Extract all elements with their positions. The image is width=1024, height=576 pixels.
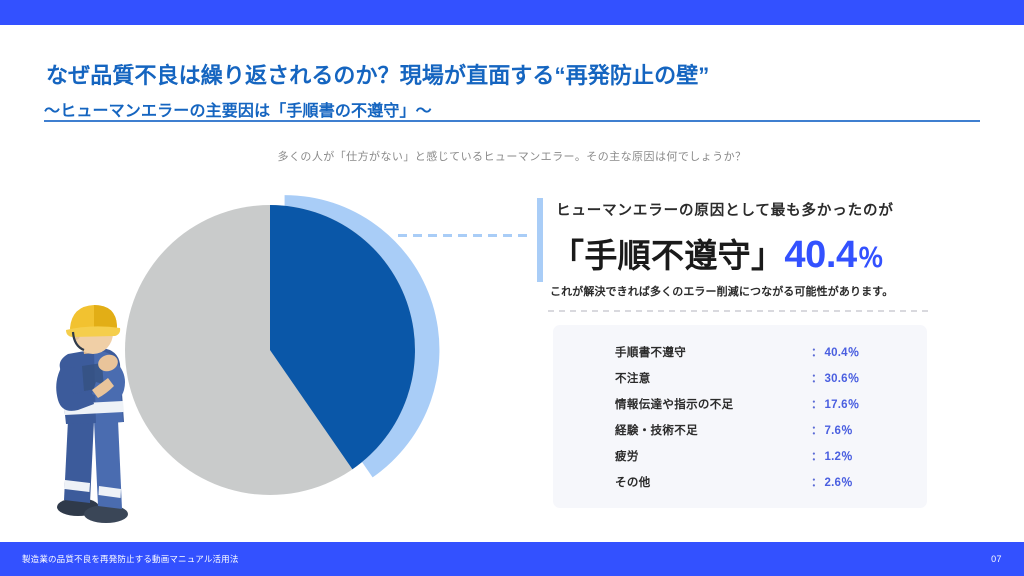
- row-label: 経験・技術不足: [615, 422, 811, 438]
- row-label: 情報伝達や指示の不足: [615, 396, 811, 412]
- row-colon: ：: [811, 474, 823, 490]
- table-row: 不注意 ： 30.6％: [615, 365, 915, 391]
- callout-kicker: ヒューマンエラーの原因として最も多かったのが: [556, 199, 894, 220]
- row-label: 手順書不遵守: [615, 344, 811, 360]
- row-colon: ：: [811, 422, 823, 438]
- footer-bar: 製造業の品質不良を再発防止する動画マニュアル活用法 07: [0, 542, 1024, 576]
- lead-text: 多くの人が「仕方がない」と感じているヒューマンエラー。その主な原因は何でしょうか…: [0, 148, 1024, 164]
- chart-callout-connector-line: [398, 234, 528, 237]
- callout-headline: 「手順不遵守」 40.4 ％: [551, 229, 884, 277]
- callout-percent-value: 40.4: [784, 234, 856, 277]
- callout-table-divider: [548, 310, 930, 312]
- row-value: 40.4％: [825, 344, 860, 360]
- row-label: その他: [615, 474, 811, 490]
- breakdown-panel: 手順書不遵守 ： 40.4％ 不注意 ： 30.6％ 情報伝達や指示の不足 ： …: [553, 325, 927, 508]
- page-number: 07: [991, 554, 1002, 564]
- row-label: 不注意: [615, 370, 811, 386]
- row-colon: ：: [811, 370, 823, 386]
- callout-note: これが解決できれば多くのエラー削減につながる可能性があります。: [550, 283, 893, 299]
- row-value: 1.2％: [825, 448, 853, 464]
- row-value: 2.6％: [825, 474, 853, 490]
- slide-canvas: なぜ品質不良は繰り返されるのか？現場が直面する“再発防止の壁” 〜ヒューマンエラ…: [0, 0, 1024, 576]
- row-colon: ：: [811, 448, 823, 464]
- top-accent-bar: [0, 0, 1024, 25]
- table-row: 情報伝達や指示の不足 ： 17.6％: [615, 391, 915, 417]
- row-value: 30.6％: [825, 370, 860, 386]
- table-row: 疲労 ： 1.2％: [615, 443, 915, 469]
- footer-title: 製造業の品質不良を再発防止する動画マニュアル活用法: [22, 553, 239, 565]
- header-divider: [44, 120, 980, 122]
- row-value: 7.6％: [825, 422, 853, 438]
- callout-phrase: 「手順不遵守」: [551, 229, 784, 277]
- page-subtitle: 〜ヒューマンエラーの主要因は「手順書の不遵守」〜: [44, 97, 432, 121]
- row-colon: ：: [811, 396, 823, 412]
- row-colon: ：: [811, 344, 823, 360]
- table-row: 手順書不遵守 ： 40.4％: [615, 339, 915, 365]
- row-label: 疲労: [615, 448, 811, 464]
- callout-accent-bar: [537, 198, 543, 282]
- callout-percent-symbol: ％: [858, 238, 884, 275]
- page-title: なぜ品質不良は繰り返されるのか？現場が直面する“再発防止の壁”: [46, 58, 709, 90]
- table-row: その他 ： 2.6％: [615, 469, 915, 495]
- table-row: 経験・技術不足 ： 7.6％: [615, 417, 915, 443]
- worker-illustration: [20, 300, 200, 530]
- row-value: 17.6％: [825, 396, 860, 412]
